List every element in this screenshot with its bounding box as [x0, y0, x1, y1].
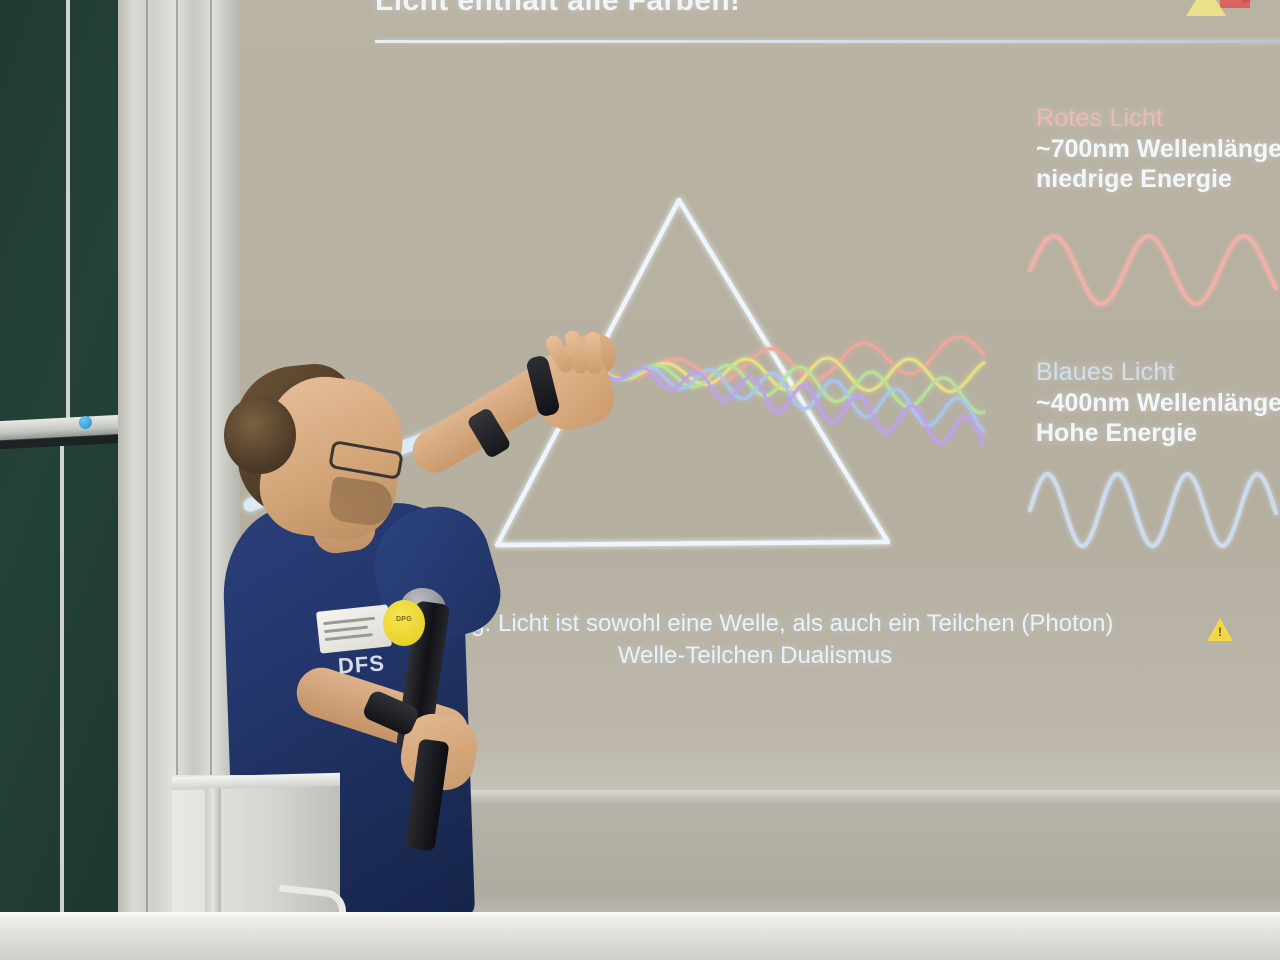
red-light-energy: niedrige Energie	[1036, 165, 1280, 195]
blue-light-label: Blaues Licht ~400nm Wellenlänge Hohe Ene…	[1036, 358, 1280, 448]
blue-wave-sample	[1030, 474, 1276, 546]
blue-light-heading: Blaues Licht	[1036, 358, 1280, 387]
red-wave-sample	[1030, 236, 1276, 304]
red-light-heading: Rotes Licht	[1036, 104, 1280, 133]
wave-blau	[602, 367, 984, 431]
name-badge	[316, 604, 392, 653]
shirt-text: DFS	[337, 650, 386, 679]
finger	[585, 332, 603, 375]
sticker-label: DPG	[383, 616, 425, 623]
magnet-icon	[79, 416, 92, 429]
blue-light-wavelength: ~400nm Wellenlänge	[1036, 389, 1280, 419]
chalkboard-seam	[66, 0, 70, 430]
front-table	[0, 915, 1280, 960]
wave-violett	[602, 368, 984, 444]
lecture-photo: Licht enthält alle Farben!	[0, 0, 1280, 960]
red-light-label: Rotes Licht ~700nm Wellenlänge niedrige …	[1036, 104, 1280, 194]
blue-light-energy: Hohe Energie	[1036, 419, 1280, 449]
round-sticker	[383, 600, 425, 646]
hair-bun	[224, 396, 296, 474]
red-light-wavelength: ~700nm Wellenlänge	[1036, 135, 1280, 165]
warning-triangle-icon-right	[1207, 618, 1233, 641]
chalkboard-seam-lower	[60, 446, 64, 960]
